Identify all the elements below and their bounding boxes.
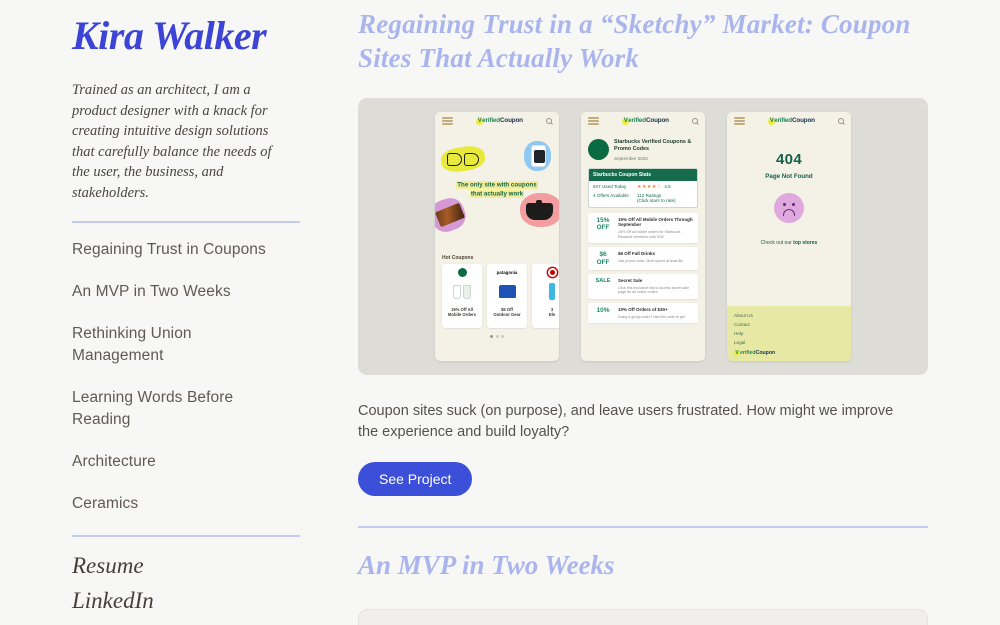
patagonia-logo: patagonia bbox=[490, 268, 524, 277]
coupon-list-item[interactable]: 15%OFF 15% Off All Mobile Orders Through… bbox=[588, 213, 698, 244]
link-resume[interactable]: Resume bbox=[72, 553, 272, 579]
sidebar-divider-bottom bbox=[72, 535, 300, 537]
mockup-footer: About Us Contact Help Legal VerifiedCoup… bbox=[727, 306, 851, 361]
coupon-title: 10% Off Orders of $30+ bbox=[618, 307, 685, 313]
mockup-store-page: VerifiedCoupon Starbucks Verified Coupon… bbox=[581, 112, 705, 361]
bio-text: Trained as an architect, I am a product … bbox=[72, 80, 272, 203]
hot-coupons-carousel[interactable]: 15% Off AllMobile Orders patagonia $5 Of… bbox=[435, 264, 559, 328]
hero-section: The only site with coupons that actually… bbox=[435, 131, 559, 251]
coupon-title: 15% Off All Mobile Orders Through Septem… bbox=[618, 217, 694, 229]
product-image bbox=[490, 277, 524, 307]
footer-link-help[interactable]: Help bbox=[734, 331, 844, 336]
sidebar-item-coupons[interactable]: Regaining Trust in Coupons bbox=[72, 239, 272, 261]
starbucks-logo-icon bbox=[445, 268, 479, 277]
smartwatch-icon bbox=[531, 145, 546, 167]
sidebar-item-words[interactable]: Learning Words Before Reading bbox=[72, 387, 272, 431]
hamburger-icon[interactable] bbox=[588, 115, 599, 126]
mockup-home: VerifiedCoupon The only site with coupon… bbox=[435, 112, 559, 361]
target-logo-icon bbox=[535, 268, 559, 277]
hamburger-icon[interactable] bbox=[442, 115, 453, 126]
footer-link-legal[interactable]: Legal bbox=[734, 340, 844, 345]
sidebar: Kira Walker Trained as an architect, I a… bbox=[0, 0, 300, 625]
coupon-title: $6 Off Fall Drinks bbox=[618, 251, 684, 257]
store-date: September 2022 bbox=[614, 156, 698, 161]
project-title: Regaining Trust in a “Sketchy” Market: C… bbox=[358, 8, 928, 76]
mockup-404-page: VerifiedCoupon 404 Page Not Found Check … bbox=[727, 112, 851, 361]
star-rating[interactable]: ★★★★☆ bbox=[637, 184, 662, 190]
hero-tagline: The only site with coupons that actually… bbox=[445, 181, 549, 200]
error-message: Page Not Found bbox=[727, 173, 851, 180]
error-code: 404 bbox=[727, 151, 851, 168]
coupon-title: Secret Sale bbox=[618, 278, 694, 284]
next-project-title: An MVP in Two Weeks bbox=[358, 550, 928, 581]
store-title: Starbucks Verified Coupons & Promo Codes bbox=[614, 139, 698, 154]
link-linkedin[interactable]: LinkedIn bbox=[72, 588, 272, 614]
verifiedcoupon-logo: VerifiedCoupon bbox=[622, 117, 669, 125]
sidebar-item-ceramics[interactable]: Ceramics bbox=[72, 493, 272, 515]
search-icon[interactable] bbox=[546, 118, 552, 124]
project-screenshots[interactable]: VerifiedCoupon The only site with coupon… bbox=[358, 98, 928, 375]
coupon-list-item[interactable]: 10% 10% Off Orders of $30+Doing a group … bbox=[588, 303, 698, 323]
carousel-dots[interactable] bbox=[435, 328, 559, 338]
sidebar-divider-top bbox=[72, 221, 300, 223]
next-project-screenshots[interactable] bbox=[358, 609, 928, 625]
sidebar-item-architecture[interactable]: Architecture bbox=[72, 451, 272, 473]
verifiedcoupon-logo: VerifiedCoupon bbox=[476, 117, 523, 125]
portfolio-page: Kira Walker Trained as an architect, I a… bbox=[0, 0, 1000, 625]
coupon-card[interactable]: patagonia $5 OffOutdoor Gear bbox=[487, 264, 527, 328]
coupon-card[interactable]: 3Ele bbox=[532, 264, 559, 328]
stats-header: Starbucks Coupon Stats bbox=[589, 169, 697, 181]
coupon-card[interactable]: 15% Off AllMobile Orders bbox=[442, 264, 482, 328]
mockup-404-topbar: VerifiedCoupon bbox=[727, 112, 851, 131]
starbucks-logo-icon bbox=[588, 139, 609, 160]
footer-link-contact[interactable]: Contact bbox=[734, 322, 844, 327]
verifiedcoupon-logo: VerifiedCoupon bbox=[768, 117, 815, 125]
coupon-stats-box: Starbucks Coupon Stats 647 Used Today ★★… bbox=[588, 168, 698, 208]
main-content: Regaining Trust in a “Sketchy” Market: C… bbox=[300, 0, 1000, 625]
search-icon[interactable] bbox=[692, 118, 698, 124]
section-divider bbox=[358, 526, 928, 528]
top-stores-link[interactable]: Check out our top stores bbox=[727, 240, 851, 246]
store-header: Starbucks Verified Coupons & Promo Codes… bbox=[581, 131, 705, 166]
footer-logo: VerifiedCoupon bbox=[734, 350, 844, 356]
see-project-button[interactable]: See Project bbox=[358, 462, 472, 496]
hot-coupons-label: Hot Coupons bbox=[435, 251, 559, 264]
hamburger-icon[interactable] bbox=[734, 115, 745, 126]
page-title: Kira Walker bbox=[72, 14, 272, 58]
product-image bbox=[445, 277, 479, 307]
product-image bbox=[535, 277, 559, 307]
sad-face-icon bbox=[774, 193, 804, 223]
coupon-list-item[interactable]: SALE Secret SaleClick this exclusive lin… bbox=[588, 274, 698, 299]
not-found-body: 404 Page Not Found Check out our top sto… bbox=[727, 131, 851, 306]
sidebar-item-union[interactable]: Rethinking Union Management bbox=[72, 323, 272, 367]
sidebar-links: Resume LinkedIn Contact bbox=[72, 553, 272, 625]
project-description: Coupon sites suck (on purpose), and leav… bbox=[358, 401, 898, 443]
footer-link-about[interactable]: About Us bbox=[734, 313, 844, 318]
search-icon[interactable] bbox=[838, 118, 844, 124]
stats-row: 4 Offers Available 112 Ratings (Click st… bbox=[589, 190, 697, 207]
dutch-oven-icon bbox=[526, 203, 553, 220]
sunglasses-icon bbox=[447, 153, 479, 166]
sidebar-nav: Regaining Trust in Coupons An MVP in Two… bbox=[72, 239, 272, 515]
mockup-store-topbar: VerifiedCoupon bbox=[581, 112, 705, 131]
stats-row: 647 Used Today ★★★★☆ 4.6 bbox=[589, 181, 697, 190]
sidebar-item-mvp[interactable]: An MVP in Two Weeks bbox=[72, 281, 272, 303]
coupon-list-item[interactable]: $6OFF $6 Off Fall DrinksUse promo code. … bbox=[588, 247, 698, 270]
mockup-home-topbar: VerifiedCoupon bbox=[435, 112, 559, 131]
